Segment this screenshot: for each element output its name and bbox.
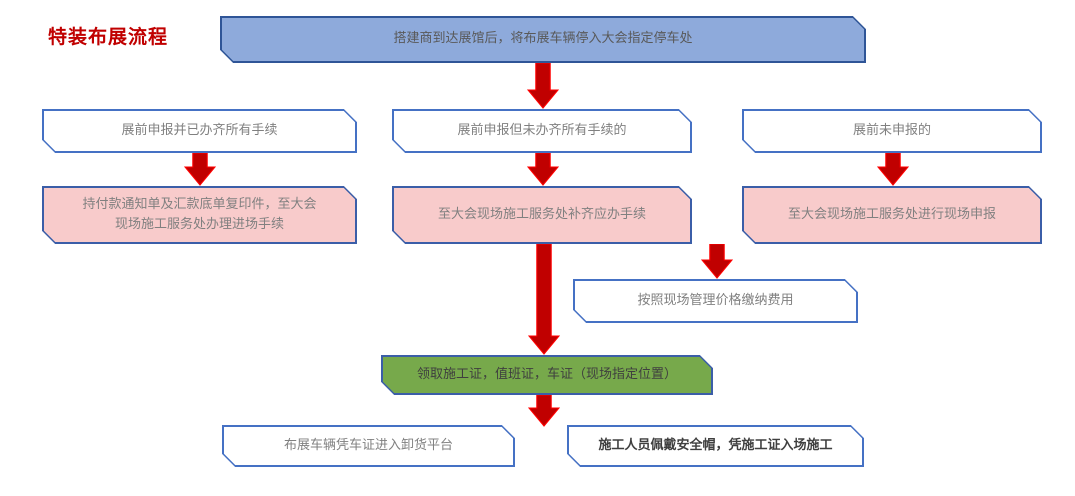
- arrow-start-to-declared-incomplete: [527, 63, 559, 109]
- arrow-not-declared-to-onsite: [877, 153, 909, 186]
- node-label: 搭建商到达展馆后，将布展车辆停入大会指定停车处: [383, 29, 702, 49]
- node-complete-missing-procedures-onsite[interactable]: 至大会现场施工服务处补齐应办手续: [392, 186, 692, 244]
- node-onsite-declaration-service-desk[interactable]: 至大会现场施工服务处进行现场申报: [742, 186, 1042, 244]
- flowchart-canvas: 特装布展流程 搭建商到达展馆后，将布展车辆停入大会指定停车处展前申报并已办齐所有…: [0, 0, 1075, 496]
- node-label: 展前申报并已办齐所有手续: [111, 121, 287, 141]
- arrow-incomplete-to-complete: [527, 153, 559, 186]
- node-label: 展前未申报的: [843, 121, 941, 141]
- node-label: 持付款通知单及汇款底单复印件，至大会 现场施工服务处办理进场手续: [72, 195, 326, 235]
- node-declared-procedures-incomplete[interactable]: 展前申报但未办齐所有手续的: [392, 109, 692, 153]
- page-title: 特装布展流程: [48, 22, 168, 49]
- node-pay-onsite-management-fee[interactable]: 按照现场管理价格缴纳费用: [573, 279, 858, 323]
- node-label: 按照现场管理价格缴纳费用: [627, 291, 803, 311]
- node-vehicle-enters-unloading-platform[interactable]: 布展车辆凭车证进入卸货平台: [222, 425, 515, 467]
- node-collect-construction-passes[interactable]: 领取施工证，值班证，车证（现场指定位置）: [381, 355, 713, 395]
- node-label: 展前申报但未办齐所有手续的: [447, 121, 636, 141]
- node-declared-all-procedures-done[interactable]: 展前申报并已办齐所有手续: [42, 109, 357, 153]
- node-label: 至大会现场施工服务处进行现场申报: [778, 205, 1006, 225]
- arrow-declared-done-to-receipt: [184, 153, 216, 186]
- node-label: 领取施工证，值班证，车证（现场指定位置）: [407, 365, 687, 385]
- node-label: 布展车辆凭车证进入卸货平台: [274, 436, 463, 456]
- arrow-complete-to-collect-passes: [528, 244, 560, 355]
- arrow-onsite-declare-to-fee: [701, 244, 733, 279]
- node-label: 至大会现场施工服务处补齐应办手续: [428, 205, 656, 225]
- node-bring-payment-receipt-entry[interactable]: 持付款通知单及汇款底单复印件，至大会 现场施工服务处办理进场手续: [42, 186, 357, 244]
- node-label: 施工人员佩戴安全帽，凭施工证入场施工: [588, 436, 842, 456]
- node-arrive-park-vehicle[interactable]: 搭建商到达展馆后，将布展车辆停入大会指定停车处: [220, 16, 866, 63]
- arrow-collect-passes-to-bottom: [528, 395, 560, 427]
- node-workers-wear-helmet-enter-site[interactable]: 施工人员佩戴安全帽，凭施工证入场施工: [567, 425, 864, 467]
- node-not-declared-before-show[interactable]: 展前未申报的: [742, 109, 1042, 153]
